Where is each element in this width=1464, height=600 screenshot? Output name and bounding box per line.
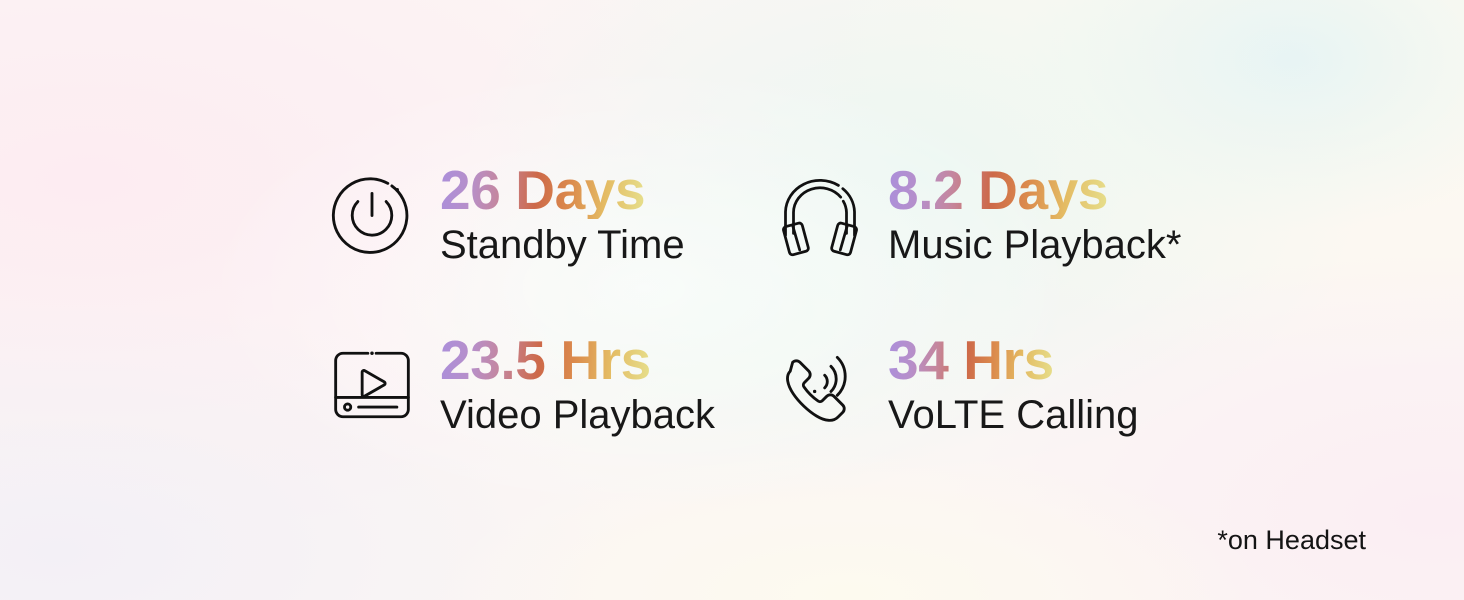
stat-item-music-playback: 8.2 Days Music Playback*	[770, 130, 1218, 300]
stat-text-standby-time: 26 Days Standby Time	[440, 161, 685, 270]
stat-value-standby-time: 26 Days	[440, 161, 645, 220]
stat-label-standby-time: Standby Time	[440, 221, 685, 269]
stats-grid: 26 Days Standby Time	[318, 130, 1218, 470]
power-icon	[326, 169, 418, 261]
stat-text-music-playback: 8.2 Days Music Playback*	[888, 161, 1181, 270]
stat-item-volte-calling: 34 Hrs VoLTE Calling	[770, 300, 1218, 470]
stat-value-music-playback: 8.2 Days	[888, 161, 1108, 220]
phone-call-icon	[774, 339, 866, 431]
stat-label-volte-calling: VoLTE Calling	[888, 391, 1139, 439]
stat-label-music-playback: Music Playback*	[888, 221, 1181, 269]
stat-label-video-playback: Video Playback	[440, 391, 715, 439]
battery-specs-poster: 26 Days Standby Time	[0, 0, 1464, 600]
stat-item-standby-time: 26 Days Standby Time	[318, 130, 770, 300]
video-player-icon	[326, 339, 418, 431]
stat-text-video-playback: 23.5 Hrs Video Playback	[440, 331, 715, 440]
stat-value-video-playback: 23.5 Hrs	[440, 331, 651, 390]
stat-text-volte-calling: 34 Hrs VoLTE Calling	[888, 331, 1139, 440]
headphones-icon	[774, 169, 866, 261]
footnote: *on Headset	[1217, 525, 1366, 556]
stat-item-video-playback: 23.5 Hrs Video Playback	[318, 300, 770, 470]
stat-value-volte-calling: 34 Hrs	[888, 331, 1054, 390]
